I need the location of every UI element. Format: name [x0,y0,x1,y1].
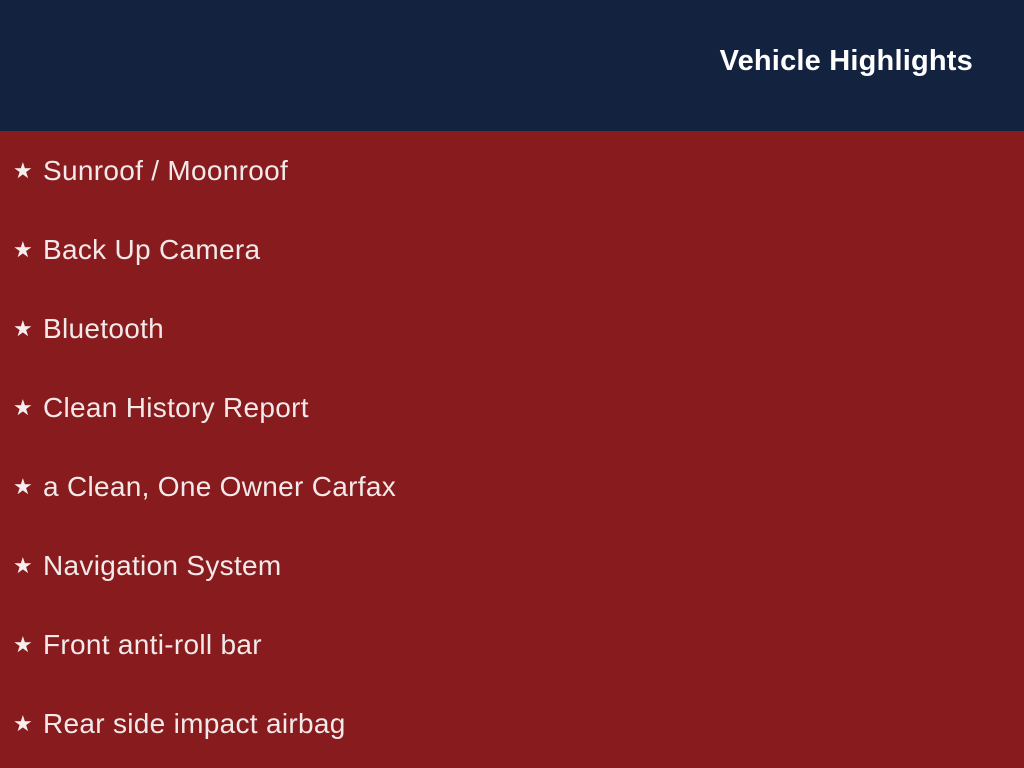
star-bullet-icon: ★ [13,634,43,656]
vehicle-highlights-list: ★ Sunroof / Moonroof ★ Back Up Camera ★ … [0,131,1024,763]
list-item-label: Navigation System [43,549,282,583]
list-item-label: Bluetooth [43,312,164,346]
list-item: ★ Clean History Report [0,368,1024,447]
list-item-label: Rear side impact airbag [43,707,346,741]
slide-body: ★ Sunroof / Moonroof ★ Back Up Camera ★ … [0,131,1024,768]
star-bullet-icon: ★ [13,318,43,340]
star-bullet-icon: ★ [13,555,43,577]
list-item-label: a Clean, One Owner Carfax [43,470,396,504]
page-title: Vehicle Highlights [720,46,973,78]
star-bullet-icon: ★ [13,476,43,498]
list-item: ★ a Clean, One Owner Carfax [0,447,1024,526]
star-bullet-icon: ★ [13,160,43,182]
list-item: ★ Rear side impact airbag [0,684,1024,763]
list-item: ★ Navigation System [0,526,1024,605]
list-item-label: Front anti-roll bar [43,628,262,662]
slide-canvas: Vehicle Highlights ★ Sunroof / Moonroof … [0,0,1024,768]
list-item: ★ Sunroof / Moonroof [0,131,1024,210]
list-item-label: Clean History Report [43,391,309,425]
star-bullet-icon: ★ [13,239,43,261]
list-item: ★ Front anti-roll bar [0,605,1024,684]
list-item: ★ Bluetooth [0,289,1024,368]
list-item-label: Sunroof / Moonroof [43,154,288,188]
star-bullet-icon: ★ [13,713,43,735]
star-bullet-icon: ★ [13,397,43,419]
list-item-label: Back Up Camera [43,233,260,267]
list-item: ★ Back Up Camera [0,210,1024,289]
slide-header: Vehicle Highlights [0,0,1024,131]
